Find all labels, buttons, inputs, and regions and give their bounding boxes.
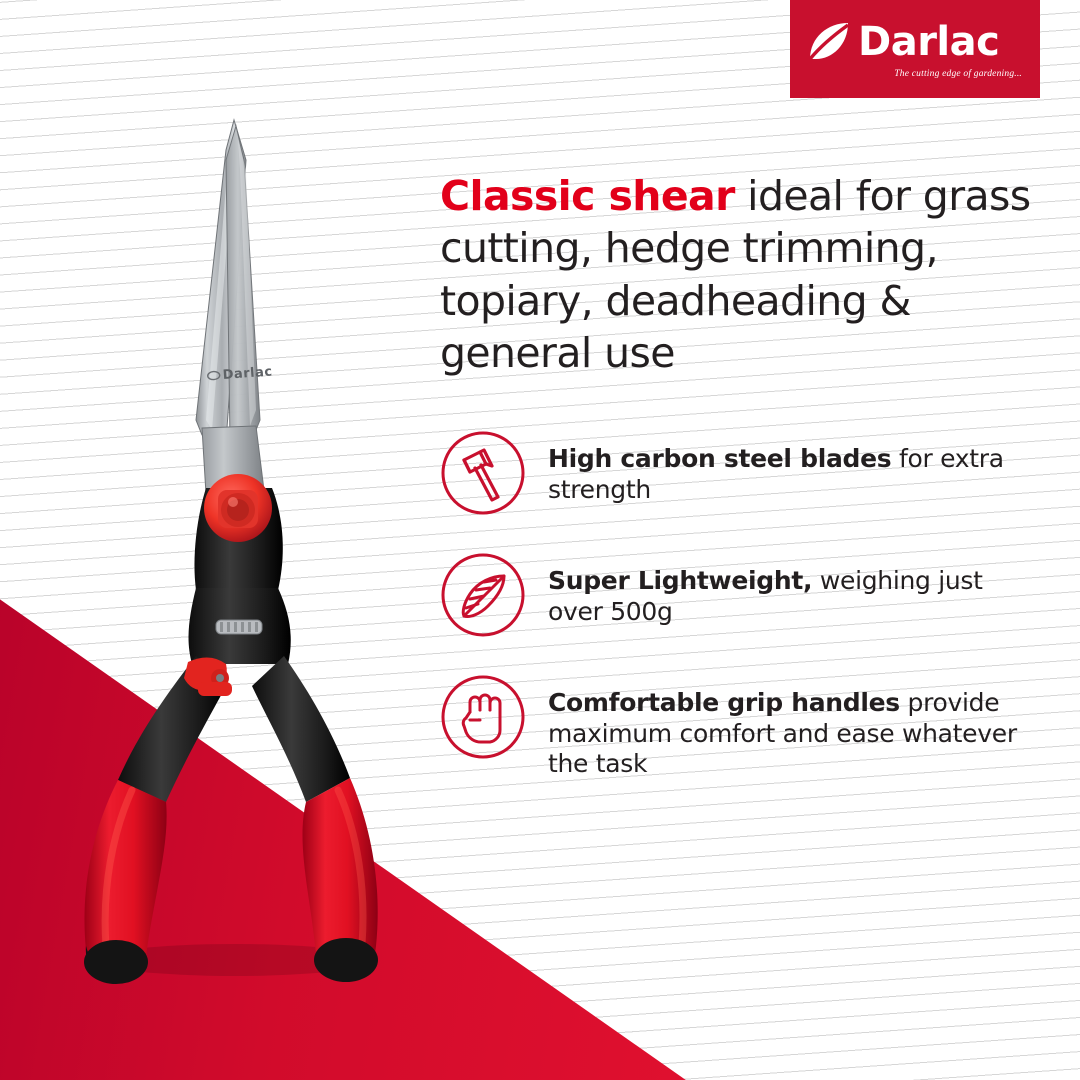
svg-text:Darlac: Darlac bbox=[222, 364, 273, 382]
feature-text: High carbon steel blades for extra stren… bbox=[548, 430, 1040, 505]
product-feature-graphic: Darlac bbox=[0, 0, 1080, 1080]
leaf-icon bbox=[806, 19, 852, 65]
headline: Classic shear ideal for grass cutting, h… bbox=[440, 170, 1040, 380]
feature-list: High carbon steel blades for extra stren… bbox=[440, 430, 1040, 816]
brand-logo: Darlac The cutting edge of gardening... bbox=[790, 0, 1040, 98]
product-image: Darlac bbox=[20, 90, 440, 990]
brand-tagline: The cutting edge of gardening... bbox=[894, 69, 1024, 79]
headline-highlight: Classic shear bbox=[440, 172, 735, 220]
brand-name: Darlac bbox=[858, 22, 999, 62]
feature-bold: Comfortable grip handles bbox=[548, 688, 900, 717]
feature-item: High carbon steel blades for extra stren… bbox=[440, 430, 1040, 516]
feature-text: Super Lightweight, weighing just over 50… bbox=[548, 552, 1040, 627]
hammer-icon bbox=[440, 430, 526, 516]
fist-grip-icon bbox=[440, 674, 526, 760]
feature-bold: Super Lightweight, bbox=[548, 566, 812, 595]
feather-icon bbox=[440, 552, 526, 638]
feature-text: Comfortable grip handles provide maximum… bbox=[548, 674, 1040, 780]
feature-item: Super Lightweight, weighing just over 50… bbox=[440, 552, 1040, 638]
feature-item: Comfortable grip handles provide maximum… bbox=[440, 674, 1040, 780]
feature-bold: High carbon steel blades bbox=[548, 444, 891, 473]
